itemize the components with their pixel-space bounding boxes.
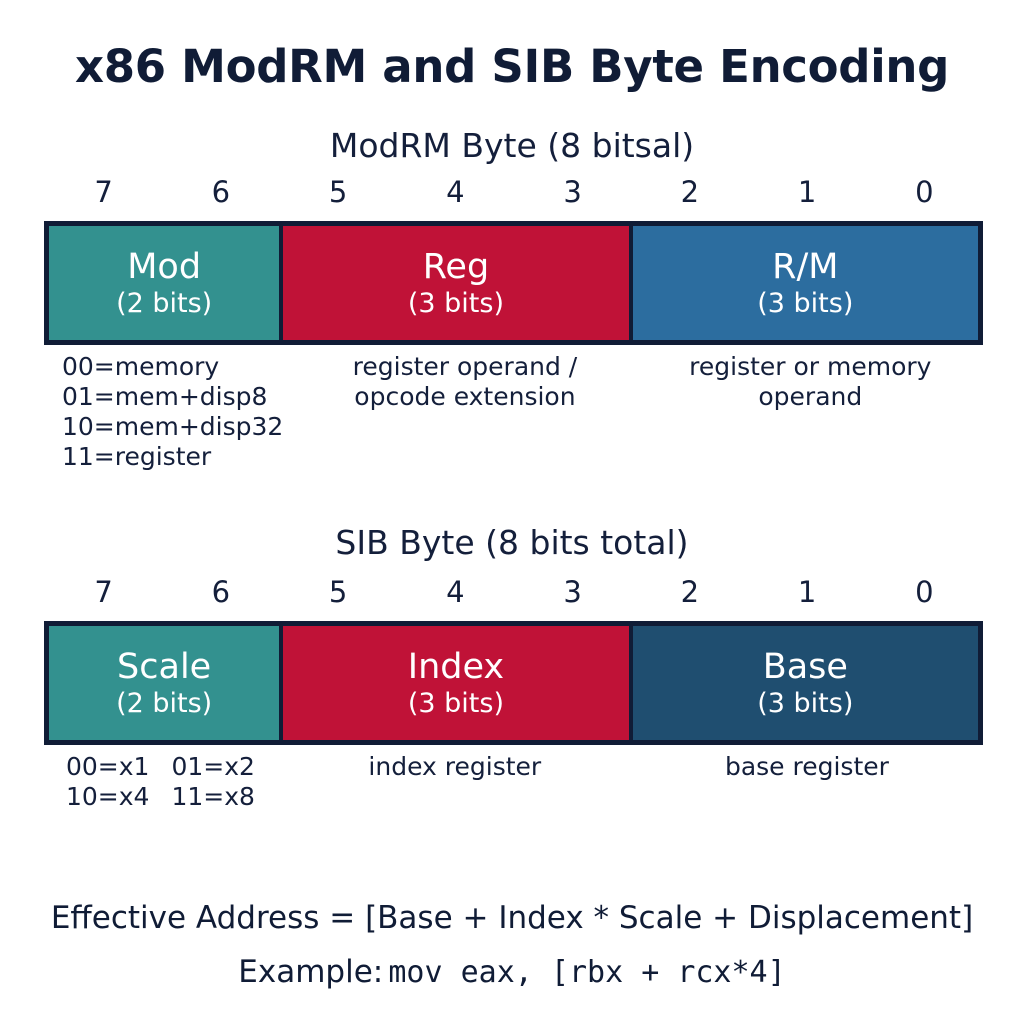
modrm-rm-legend-line: register or memory	[638, 352, 983, 382]
modrm-mod-legend-line: 01=mem+disp8	[62, 382, 292, 412]
sib-base-legend: base register	[631, 752, 983, 782]
sib-scale-legend-cell: 01=x2	[171, 752, 254, 782]
sib-field-base: Base (3 bits)	[633, 626, 978, 740]
diagram-canvas: x86 ModRM and SIB Byte Encoding ModRM By…	[0, 0, 1024, 1024]
example-row: Example: mov eax, [rbx + rcx*4]	[0, 952, 1024, 993]
sib-bit-label: 7	[45, 575, 162, 609]
modrm-bit-label: 6	[162, 175, 279, 209]
modrm-field-rm-name: R/M	[772, 247, 838, 287]
sib-field-scale-bits: (2 bits)	[116, 687, 212, 720]
sib-scale-legend-cell: 10=x4	[66, 782, 149, 812]
modrm-field-reg-name: Reg	[423, 247, 490, 287]
modrm-bit-label: 2	[631, 175, 748, 209]
modrm-section-title: ModRM Byte (8 bitsal)	[0, 126, 1024, 165]
sib-scale-legend-cell: 00=x1	[66, 752, 149, 782]
modrm-field-mod-name: Mod	[127, 247, 201, 287]
effective-address-formula-text: Effective Address = [Base + Index * Scal…	[51, 900, 973, 936]
sib-section-title: SIB Byte (8 bits total)	[0, 523, 1024, 562]
sib-field-index-name: Index	[408, 647, 504, 687]
sib-bit-label: 5	[280, 575, 397, 609]
sib-field-base-name: Base	[763, 647, 848, 687]
sib-bit-label: 6	[162, 575, 279, 609]
page-title: x86 ModRM and SIB Byte Encoding	[0, 40, 1024, 93]
sib-bit-label: 2	[631, 575, 748, 609]
modrm-rm-legend-line: operand	[638, 382, 983, 412]
modrm-mod-legend-line: 00=memory	[62, 352, 292, 382]
modrm-rm-legend: register or memory operand	[638, 352, 983, 412]
sib-index-legend-line: index register	[279, 752, 631, 782]
sib-field-index: Index (3 bits)	[283, 626, 632, 740]
modrm-bit-label: 0	[866, 175, 983, 209]
modrm-legend-row: 00=memory 01=mem+disp8 10=mem+disp32 11=…	[44, 352, 983, 472]
modrm-bit-label: 5	[280, 175, 397, 209]
sib-field-scale: Scale (2 bits)	[49, 626, 283, 740]
sib-bit-label: 0	[866, 575, 983, 609]
modrm-field-mod: Mod (2 bits)	[49, 226, 283, 340]
modrm-bit-label: 1	[749, 175, 866, 209]
modrm-byte-bar: Mod (2 bits) Reg (3 bits) R/M (3 bits)	[44, 221, 983, 345]
modrm-field-reg: Reg (3 bits)	[283, 226, 632, 340]
sib-bit-index-row: 7 6 5 4 3 2 1 0	[45, 575, 983, 609]
sib-byte-bar: Scale (2 bits) Index (3 bits) Base (3 bi…	[44, 621, 983, 745]
modrm-field-rm-bits: (3 bits)	[757, 287, 853, 320]
sib-legend-row: 00=x1 01=x2 10=x4 11=x8 index register b…	[44, 752, 983, 812]
modrm-mod-legend: 00=memory 01=mem+disp8 10=mem+disp32 11=…	[44, 352, 292, 472]
sib-field-index-bits: (3 bits)	[408, 687, 504, 720]
modrm-reg-legend-line: opcode extension	[292, 382, 637, 412]
example-code: mov eax, [rbx + rcx*4]	[388, 955, 785, 990]
modrm-mod-legend-line: 11=register	[62, 442, 292, 472]
sib-index-legend: index register	[279, 752, 631, 782]
modrm-bit-label: 7	[45, 175, 162, 209]
example-label: Example:	[238, 954, 383, 990]
modrm-bit-index-row: 7 6 5 4 3 2 1 0	[45, 175, 983, 209]
sib-field-scale-name: Scale	[117, 647, 211, 687]
sib-base-legend-line: base register	[631, 752, 983, 782]
modrm-reg-legend-line: register operand /	[292, 352, 637, 382]
modrm-field-reg-bits: (3 bits)	[408, 287, 504, 320]
modrm-bit-label: 4	[397, 175, 514, 209]
modrm-reg-legend: register operand / opcode extension	[292, 352, 637, 412]
modrm-field-mod-bits: (2 bits)	[116, 287, 212, 320]
sib-scale-legend-cell: 11=x8	[171, 782, 254, 812]
sib-scale-legend: 00=x1 01=x2 10=x4 11=x8	[44, 752, 279, 812]
modrm-mod-legend-line: 10=mem+disp32	[62, 412, 292, 442]
sib-bit-label: 3	[514, 575, 631, 609]
sib-field-base-bits: (3 bits)	[757, 687, 853, 720]
modrm-bit-label: 3	[514, 175, 631, 209]
sib-bit-label: 1	[749, 575, 866, 609]
modrm-field-rm: R/M (3 bits)	[633, 226, 978, 340]
sib-bit-label: 4	[397, 575, 514, 609]
effective-address-formula: Effective Address = [Base + Index * Scal…	[0, 898, 1024, 938]
